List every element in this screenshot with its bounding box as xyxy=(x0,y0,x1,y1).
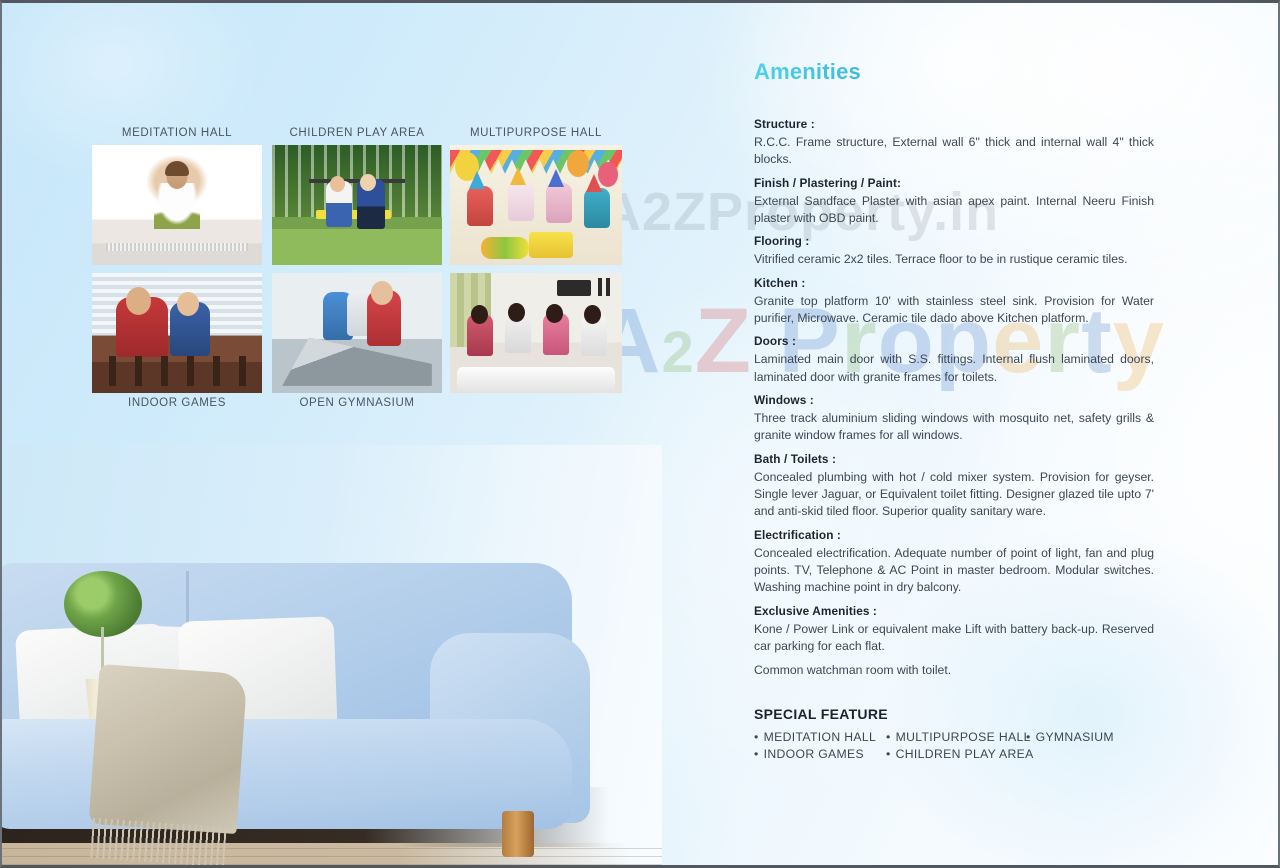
specification-label: Structure : xyxy=(754,117,1154,131)
photo-caption-multipurpose-hall: MULTIPURPOSE HALL xyxy=(450,127,622,139)
special-feature-title: SPECIAL FEATURE xyxy=(754,706,1154,722)
sofa-leg xyxy=(502,811,534,857)
sofa-seat xyxy=(2,719,572,829)
specification-item: Windows :Three track aluminium sliding w… xyxy=(754,393,1154,445)
specification-label: Exclusive Amenities : xyxy=(754,604,1154,618)
specification-text: Kone / Power Link or equivalent make Lif… xyxy=(754,621,1154,656)
specification-text: Concealed electrification. Adequate numb… xyxy=(754,545,1154,597)
photo-caption-open-gymnasium: OPEN GYMNASIUM xyxy=(272,397,442,409)
specification-label: Windows : xyxy=(754,393,1154,407)
watermark-letter: 2 xyxy=(661,319,694,386)
specification-text: Common watchman room with toilet. xyxy=(754,662,1154,679)
special-feature-item: MULTIPURPOSE HALL xyxy=(886,730,1026,744)
specification-label: Electrification : xyxy=(754,528,1154,542)
special-feature-item: INDOOR GAMES xyxy=(754,747,886,761)
specification-item: Doors :Laminated main door with S.S. fit… xyxy=(754,334,1154,386)
specification-label: Flooring : xyxy=(754,234,1154,248)
brochure-page: A2ZProperty.in A2Z Property MEDITATION H… xyxy=(0,0,1280,868)
living-room-photo xyxy=(2,445,662,865)
watermark-letter: Z xyxy=(695,289,752,394)
specification-text: External Sandface Plaster with asian ape… xyxy=(754,193,1154,228)
photo-indoor-games xyxy=(92,273,262,393)
photo-open-gymnasium xyxy=(272,273,442,393)
special-feature-section: SPECIAL FEATURE MEDITATION HALLMULTIPURP… xyxy=(754,706,1154,761)
specification-item: Common watchman room with toilet. xyxy=(754,662,1154,679)
specification-text: Laminated main door with S.S. fittings. … xyxy=(754,351,1154,386)
specification-label: Bath / Toilets : xyxy=(754,452,1154,466)
specification-item: Exclusive Amenities :Kone / Power Link o… xyxy=(754,604,1154,656)
photo-caption-meditation-hall: MEDITATION HALL xyxy=(92,127,262,139)
specification-label: Finish / Plastering / Paint: xyxy=(754,176,1154,190)
photo-kitty-party xyxy=(450,273,622,393)
photo-children-play-area xyxy=(272,145,442,265)
specification-text: Concealed plumbing with hot / cold mixer… xyxy=(754,469,1154,521)
specification-list: Structure :R.C.C. Frame structure, Exter… xyxy=(754,117,1154,680)
amenities-panel: Amenities Structure :R.C.C. Frame struct… xyxy=(754,59,1154,761)
specification-text: Granite top platform 10' with stainless … xyxy=(754,293,1154,328)
specification-item: Structure :R.C.C. Frame structure, Exter… xyxy=(754,117,1154,169)
photo-caption-children-play-area: CHILDREN PLAY AREA xyxy=(272,127,442,139)
specification-item: Electrification :Concealed electrificati… xyxy=(754,528,1154,597)
specification-item: Finish / Plastering / Paint:External San… xyxy=(754,176,1154,228)
specification-text: Three track aluminium sliding windows wi… xyxy=(754,410,1154,445)
special-feature-item: GYMNASIUM xyxy=(1026,730,1146,744)
throw-blanket xyxy=(89,664,248,834)
specification-label: Doors : xyxy=(754,334,1154,348)
special-feature-row: MEDITATION HALLMULTIPURPOSE HALLGYMNASIU… xyxy=(754,730,1154,744)
special-feature-item: CHILDREN PLAY AREA xyxy=(886,747,1026,761)
specification-text: R.C.C. Frame structure, External wall 6"… xyxy=(754,134,1154,169)
special-feature-list: MEDITATION HALLMULTIPURPOSE HALLGYMNASIU… xyxy=(754,730,1154,761)
amenity-photo-grid: MEDITATION HALL CHILDREN PLAY AREA MULTI… xyxy=(92,145,622,395)
specification-item: Kitchen :Granite top platform 10' with s… xyxy=(754,276,1154,328)
specification-item: Bath / Toilets :Concealed plumbing with … xyxy=(754,452,1154,521)
photo-caption-indoor-games: INDOOR GAMES xyxy=(92,397,262,409)
specification-label: Kitchen : xyxy=(754,276,1154,290)
special-feature-item: MEDITATION HALL xyxy=(754,730,886,744)
page-title: Amenities xyxy=(754,59,1154,85)
specification-item: Flooring :Vitrified ceramic 2x2 tiles. T… xyxy=(754,234,1154,268)
photo-multipurpose-hall xyxy=(450,145,622,265)
photo-meditation-hall xyxy=(92,145,262,265)
specification-text: Vitrified ceramic 2x2 tiles. Terrace flo… xyxy=(754,251,1154,268)
special-feature-row: INDOOR GAMESCHILDREN PLAY AREA xyxy=(754,747,1154,761)
